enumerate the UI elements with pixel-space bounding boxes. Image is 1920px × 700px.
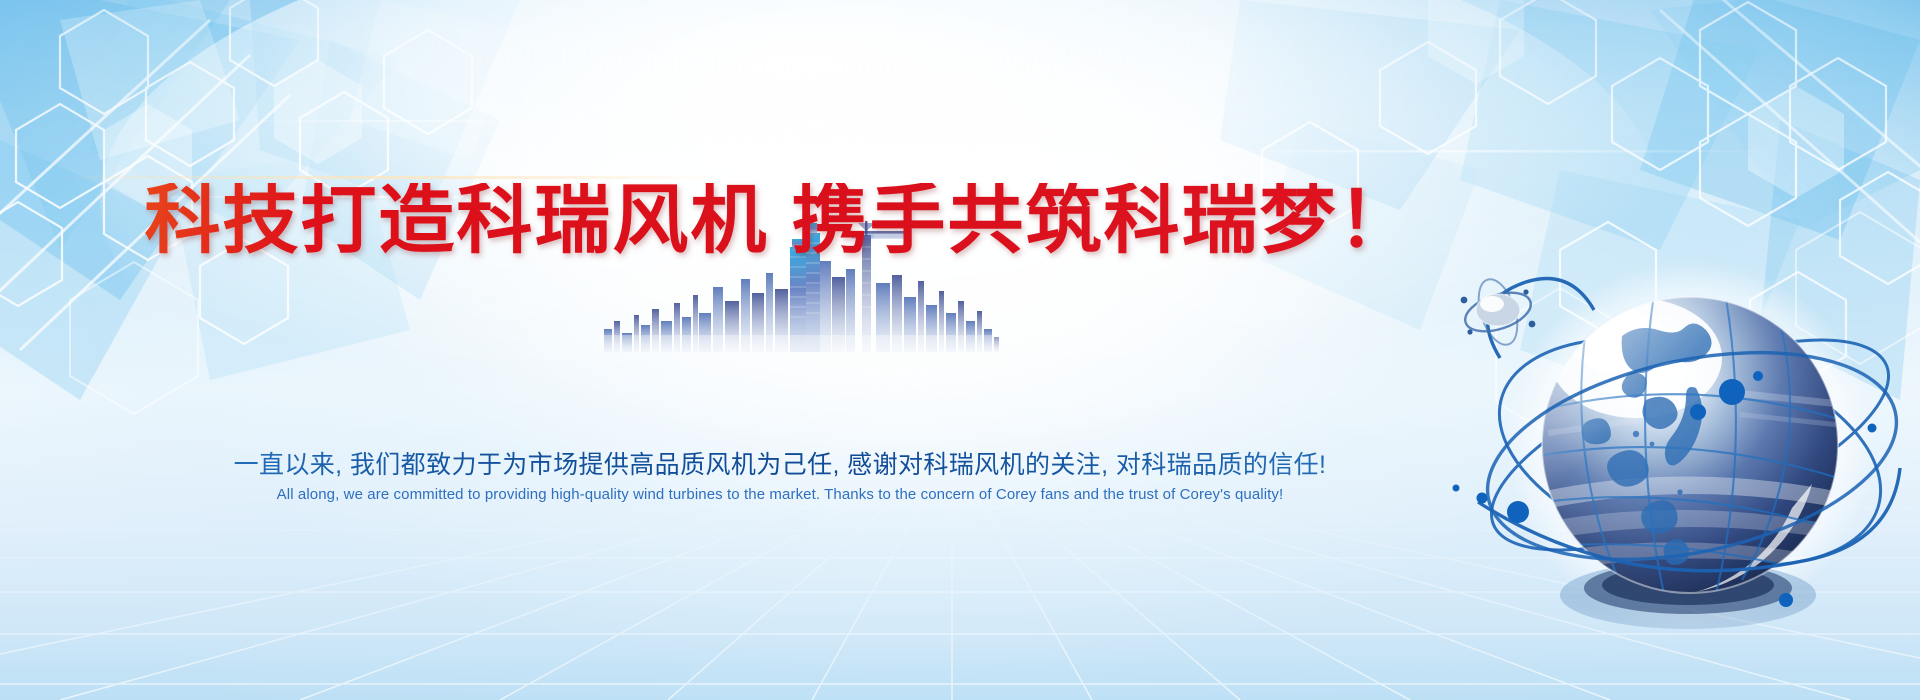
promo-banner: 科技打造科瑞风机 携手共筑科瑞梦！ 一直以来, 我们都致力于为市场提供高品质风机… — [0, 0, 1920, 700]
banner-content: 科技打造科瑞风机 携手共筑科瑞梦！ 一直以来, 我们都致力于为市场提供高品质风机… — [0, 0, 1560, 700]
page-title: 科技打造科瑞风机 携手共筑科瑞梦！ — [0, 183, 1560, 259]
subtitle-chinese: 一直以来, 我们都致力于为市场提供高品质风机为己任, 感谢对科瑞风机的关注, 对… — [0, 449, 1560, 482]
subtitle-english: All along, we are committed to providing… — [0, 485, 1560, 505]
